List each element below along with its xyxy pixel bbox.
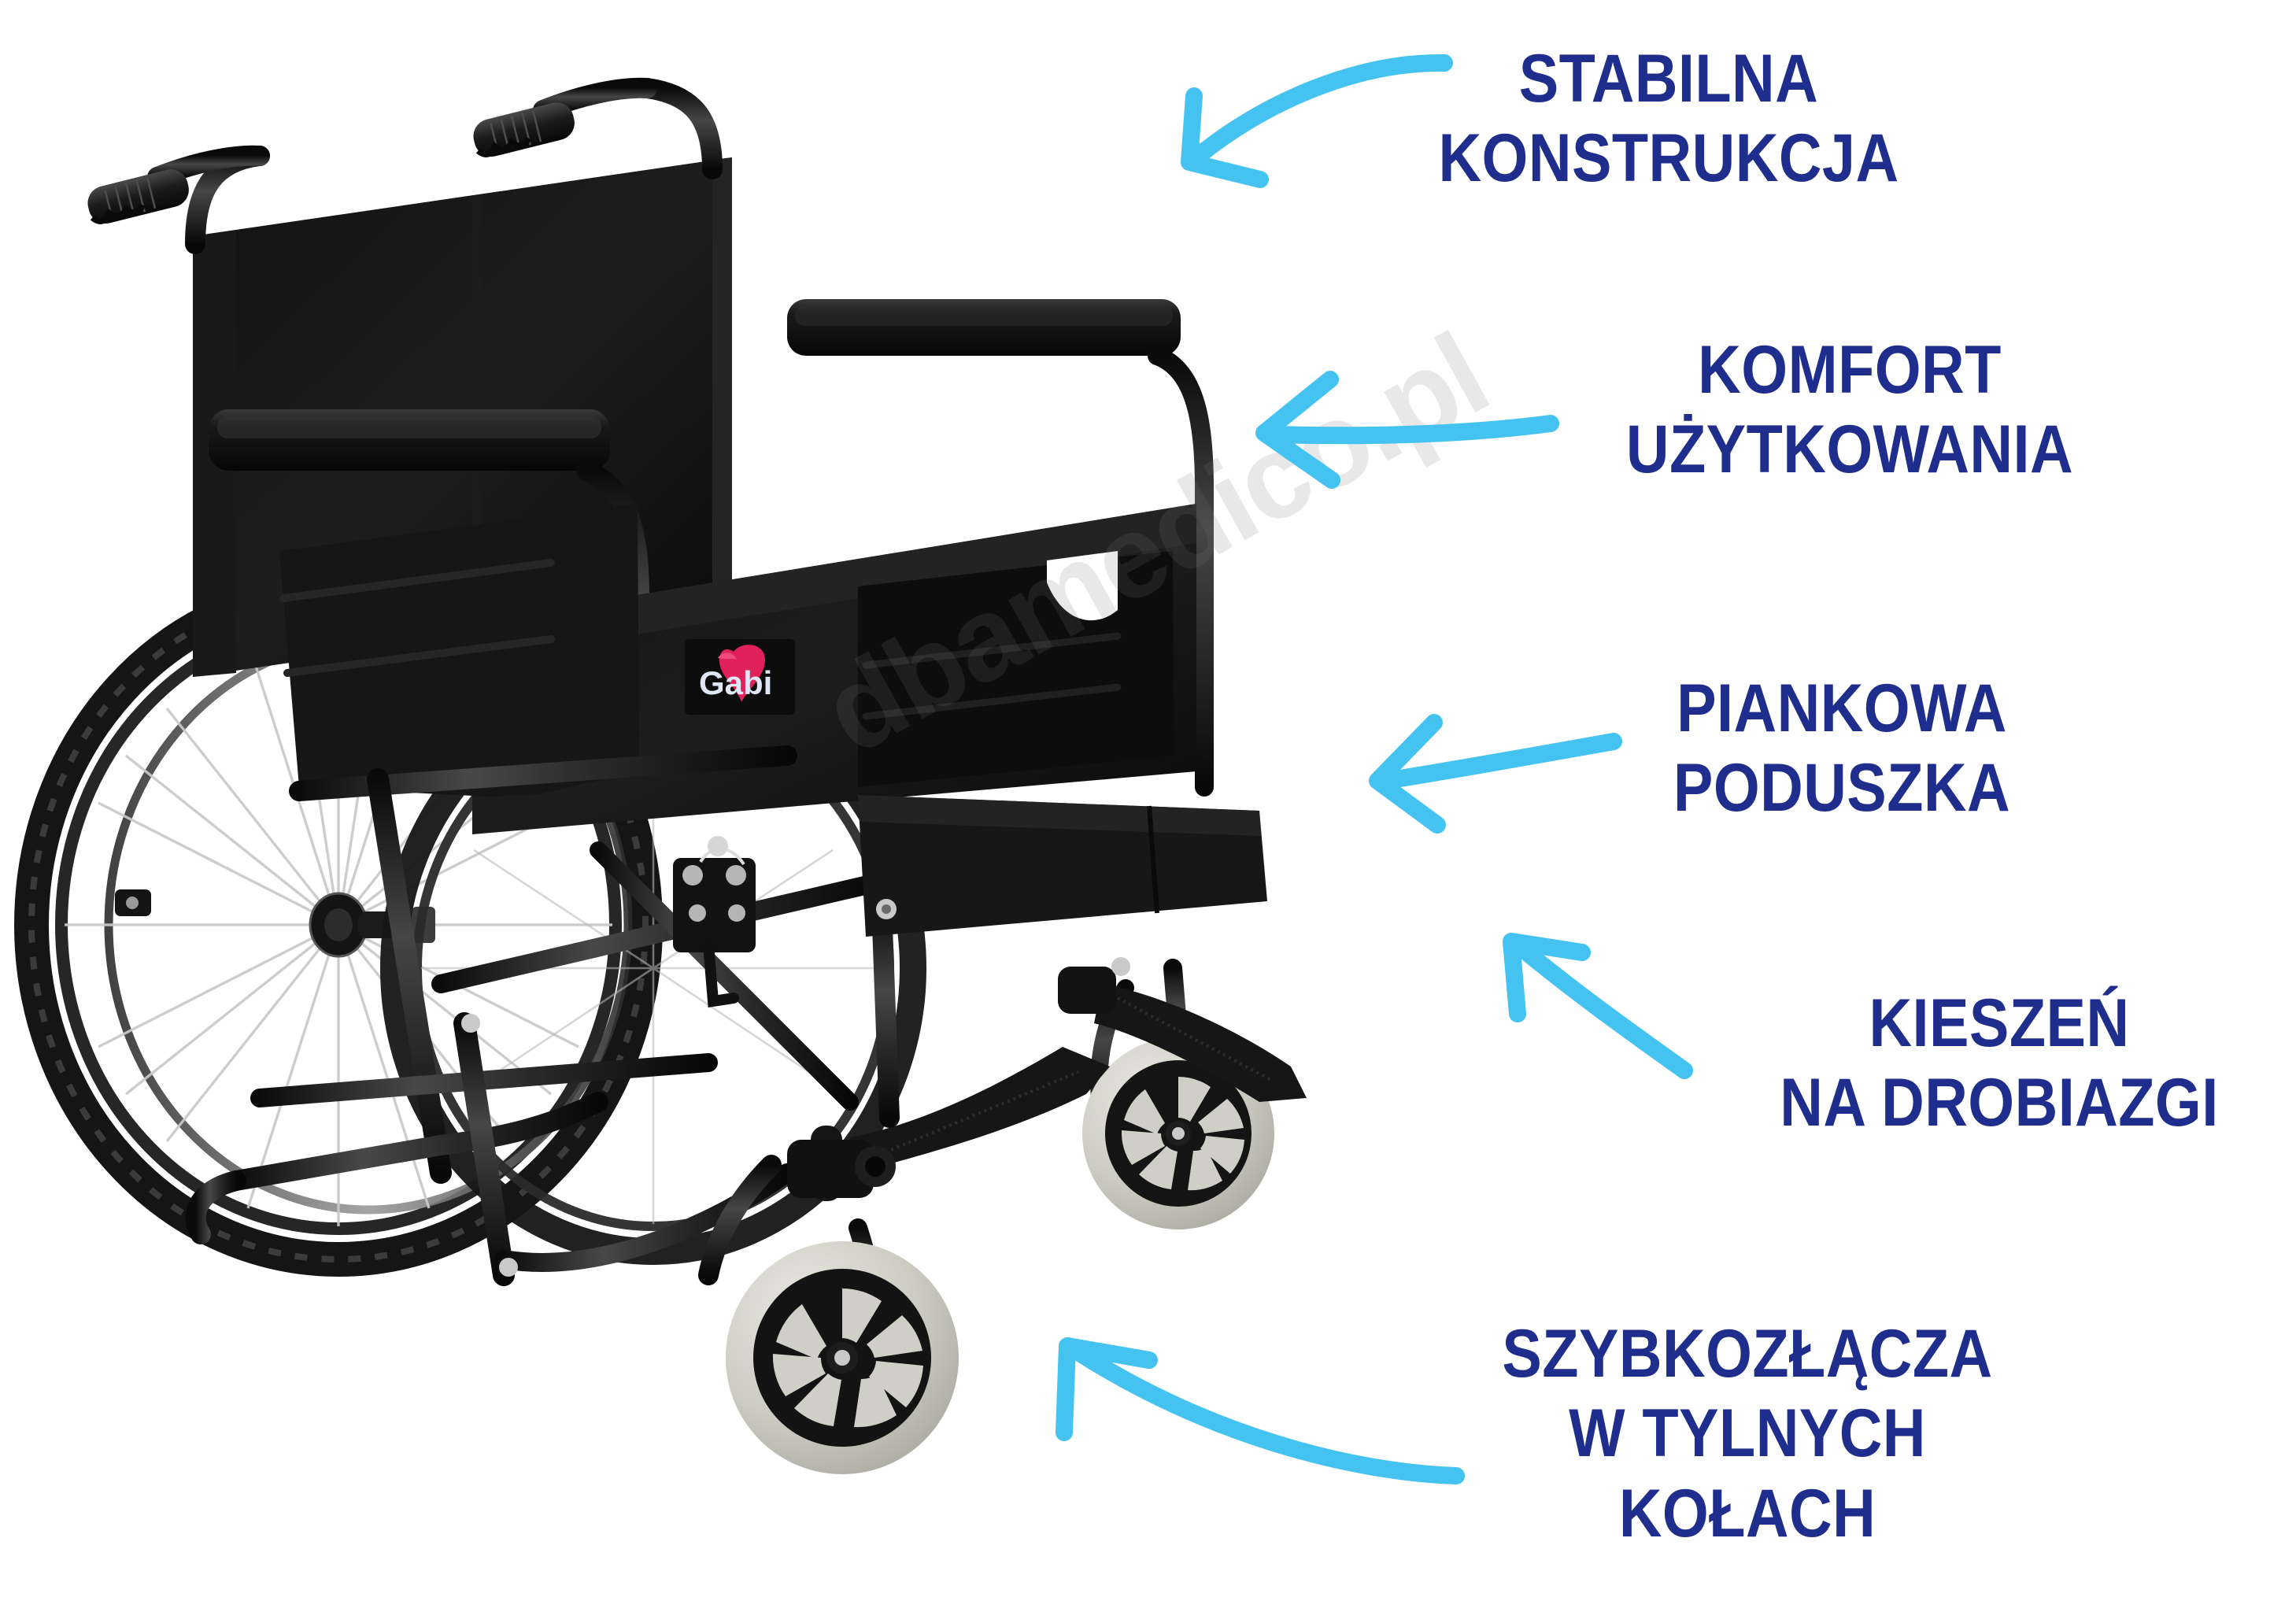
promo-banner: dbamedico.pl [0,0,2296,1612]
push-handle-right [470,88,712,169]
side-guard-far [858,551,1174,787]
svg-text:Gabi: Gabi [699,664,772,701]
callout-stabilna-line-2: KONSTRUKCJA [1426,119,1911,198]
arrow-kieszen [1488,921,1740,1094]
arrow-piankowa [1362,693,1621,834]
footplate-near [787,1047,1110,1198]
callout-piankowa: PIANKOWA PODUSZKA [1627,669,2057,829]
callout-kieszen: KIESZEŃ NA DROBIAZGI [1757,984,2242,1144]
callout-piankowa-line-1: PIANKOWA [1627,669,2057,749]
calf-strap [858,795,1267,937]
callout-komfort-line-1: KOMFORT [1580,331,2120,410]
callout-kieszen-line-1: KIESZEŃ [1757,984,2242,1063]
callout-stabilna-line-1: STABILNA [1426,39,1911,119]
callout-szybkozlacza-line-2: W TYLNYCH [1477,1394,2017,1473]
callout-komfort-line-2: UŻYTKOWANIA [1580,410,2120,490]
callout-komfort: KOMFORT UŻYTKOWANIA [1580,331,2120,490]
callout-kieszen-line-2: NA DROBIAZGI [1757,1063,2242,1143]
front-caster-near [708,1165,959,1474]
arrow-stabilna [1122,47,1452,197]
callout-szybkozlacza-line-1: SZYBKOZŁĄCZA [1477,1314,2017,1394]
wheel-lock [673,849,756,1001]
arrow-szybkozlacza [1031,1322,1472,1519]
brand-badge: Gabi [685,639,795,715]
callout-szybkozlacza: SZYBKOZŁĄCZA W TYLNYCH KOŁACH [1477,1314,2017,1554]
callout-piankowa-line-2: PODUSZKA [1627,749,2057,828]
callout-szybkozlacza-line-3: KOŁACH [1477,1474,2017,1554]
arrow-komfort [1244,362,1558,504]
callout-stabilna: STABILNA KONSTRUKCJA [1426,39,1911,199]
